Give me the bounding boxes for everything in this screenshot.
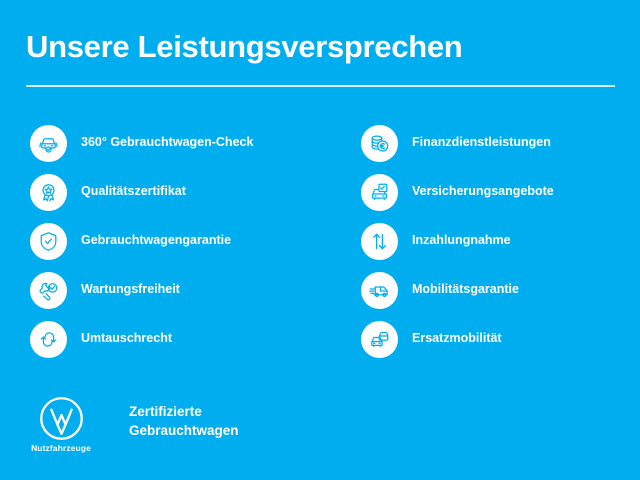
brand-claim-line-2: Gebrauchtwagen xyxy=(129,421,239,440)
vw-subbrand-label: Nutzfahrzeuge xyxy=(31,443,91,453)
car-document-check-icon xyxy=(361,174,398,211)
car-check-icon xyxy=(30,125,67,162)
list-item-label: Inzahlungnahme xyxy=(412,233,511,248)
award-rosette-icon xyxy=(30,174,67,211)
list-item[interactable]: Umtauschrecht xyxy=(30,320,330,369)
list-item[interactable]: Mobilitätsgarantie xyxy=(361,271,631,320)
list-item-label: Umtauschrecht xyxy=(81,331,172,346)
list-item-label: Wartungsfreiheit xyxy=(81,282,180,297)
list-item-label: Gebrauchtwagengarantie xyxy=(81,233,231,248)
page-title: Unsere Leistungsversprechen xyxy=(26,30,616,64)
brand-claim-line-1: Zertifizierte xyxy=(129,402,239,421)
header: Unsere Leistungsversprechen xyxy=(26,30,616,64)
brand-claim: Zertifizierte Gebrauchtwagen xyxy=(129,402,239,440)
two-cars-icon xyxy=(361,321,398,358)
list-item-label: Qualitätszertifikat xyxy=(81,184,186,199)
list-item-label: 360° Gebrauchtwagen-Check xyxy=(81,135,253,150)
list-item[interactable]: Finanzdienstleistungen xyxy=(361,124,631,173)
title-divider xyxy=(26,85,615,87)
list-item[interactable]: Gebrauchtwagengarantie xyxy=(30,222,330,271)
list-item-label: Ersatzmobilität xyxy=(412,331,502,346)
list-item[interactable]: Wartungsfreiheit xyxy=(30,271,330,320)
slide-root: Unsere Leistungsversprechen 3 xyxy=(0,0,640,480)
volkswagen-logo: Nutzfahrzeuge xyxy=(30,396,92,453)
list-item-label: Versicherungsangebote xyxy=(412,184,554,199)
list-item[interactable]: 360° Gebrauchtwagen-Check xyxy=(30,124,330,173)
list-item-label: Mobilitätsgarantie xyxy=(412,282,519,297)
shield-check-icon xyxy=(30,223,67,260)
brand-lockup: Nutzfahrzeuge Zertifizierte Gebrauchtwag… xyxy=(30,396,239,453)
van-speed-icon xyxy=(361,272,398,309)
wrench-check-icon xyxy=(30,272,67,309)
benefits-left-column: 360° Gebrauchtwagen-Check Qualitätszerti… xyxy=(30,124,330,369)
list-item-label: Finanzdienstleistungen xyxy=(412,135,551,150)
list-item[interactable]: Qualitätszertifikat xyxy=(30,173,330,222)
benefits-right-column: Finanzdienstleistungen Versicherungsange… xyxy=(361,124,631,369)
up-down-arrows-icon xyxy=(361,223,398,260)
list-item[interactable]: Inzahlungnahme xyxy=(361,222,631,271)
exchange-arrows-icon xyxy=(30,321,67,358)
list-item[interactable]: Versicherungsangebote xyxy=(361,173,631,222)
coins-euro-icon xyxy=(361,125,398,162)
list-item[interactable]: Ersatzmobilität xyxy=(361,320,631,369)
